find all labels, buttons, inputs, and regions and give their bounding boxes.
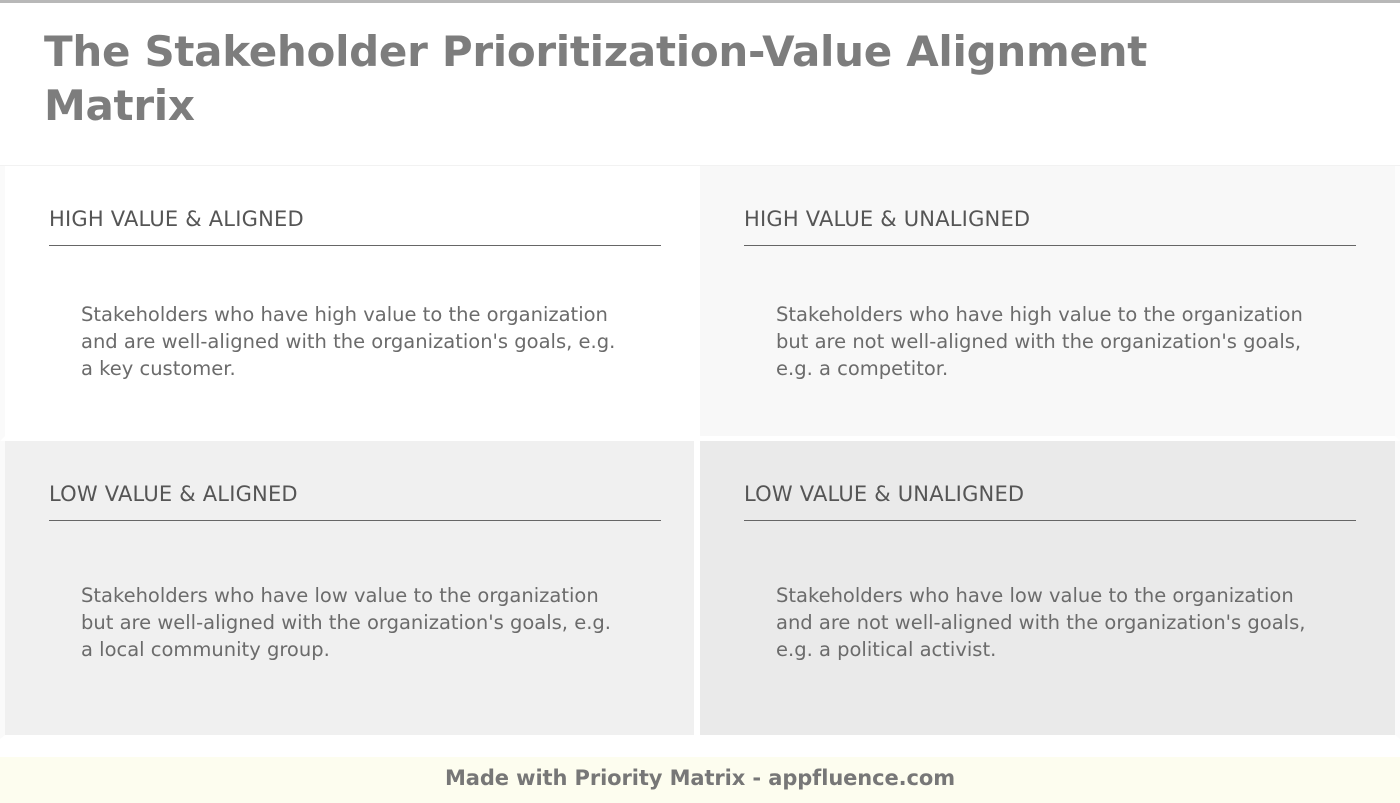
quadrant-body-high-value-aligned: Stakeholders who have high value to the … xyxy=(49,246,621,382)
quadrant-high-value-aligned[interactable]: HIGH VALUE & ALIGNED Stakeholders who ha… xyxy=(0,166,700,441)
quadrant-title-low-value-unaligned: LOW VALUE & UNALIGNED xyxy=(744,483,1356,521)
quadrant-body-high-value-unaligned: Stakeholders who have high value to the … xyxy=(744,246,1316,382)
quadrant-body-low-value-unaligned: Stakeholders who have low value to the o… xyxy=(744,521,1336,663)
quadrant-title-high-value-unaligned: HIGH VALUE & UNALIGNED xyxy=(744,208,1356,246)
matrix-page: The Stakeholder Prioritization-Value Ali… xyxy=(0,0,1400,803)
quadrant-low-value-unaligned[interactable]: LOW VALUE & UNALIGNED Stakeholders who h… xyxy=(700,441,1400,739)
footer-spacer xyxy=(0,739,1400,757)
quadrant-title-high-value-aligned: HIGH VALUE & ALIGNED xyxy=(49,208,661,246)
quadrant-low-value-aligned[interactable]: LOW VALUE & ALIGNED Stakeholders who hav… xyxy=(0,441,700,739)
page-title: The Stakeholder Prioritization-Value Ali… xyxy=(44,25,1304,133)
matrix-grid: HIGH VALUE & ALIGNED Stakeholders who ha… xyxy=(0,166,1400,739)
quadrant-body-low-value-aligned: Stakeholders who have low value to the o… xyxy=(49,521,621,663)
footer-attribution[interactable]: Made with Priority Matrix - appfluence.c… xyxy=(445,766,955,790)
page-footer: Made with Priority Matrix - appfluence.c… xyxy=(0,757,1400,803)
quadrant-title-low-value-aligned: LOW VALUE & ALIGNED xyxy=(49,483,661,521)
page-header: The Stakeholder Prioritization-Value Ali… xyxy=(0,3,1400,166)
quadrant-high-value-unaligned[interactable]: HIGH VALUE & UNALIGNED Stakeholders who … xyxy=(700,166,1400,441)
